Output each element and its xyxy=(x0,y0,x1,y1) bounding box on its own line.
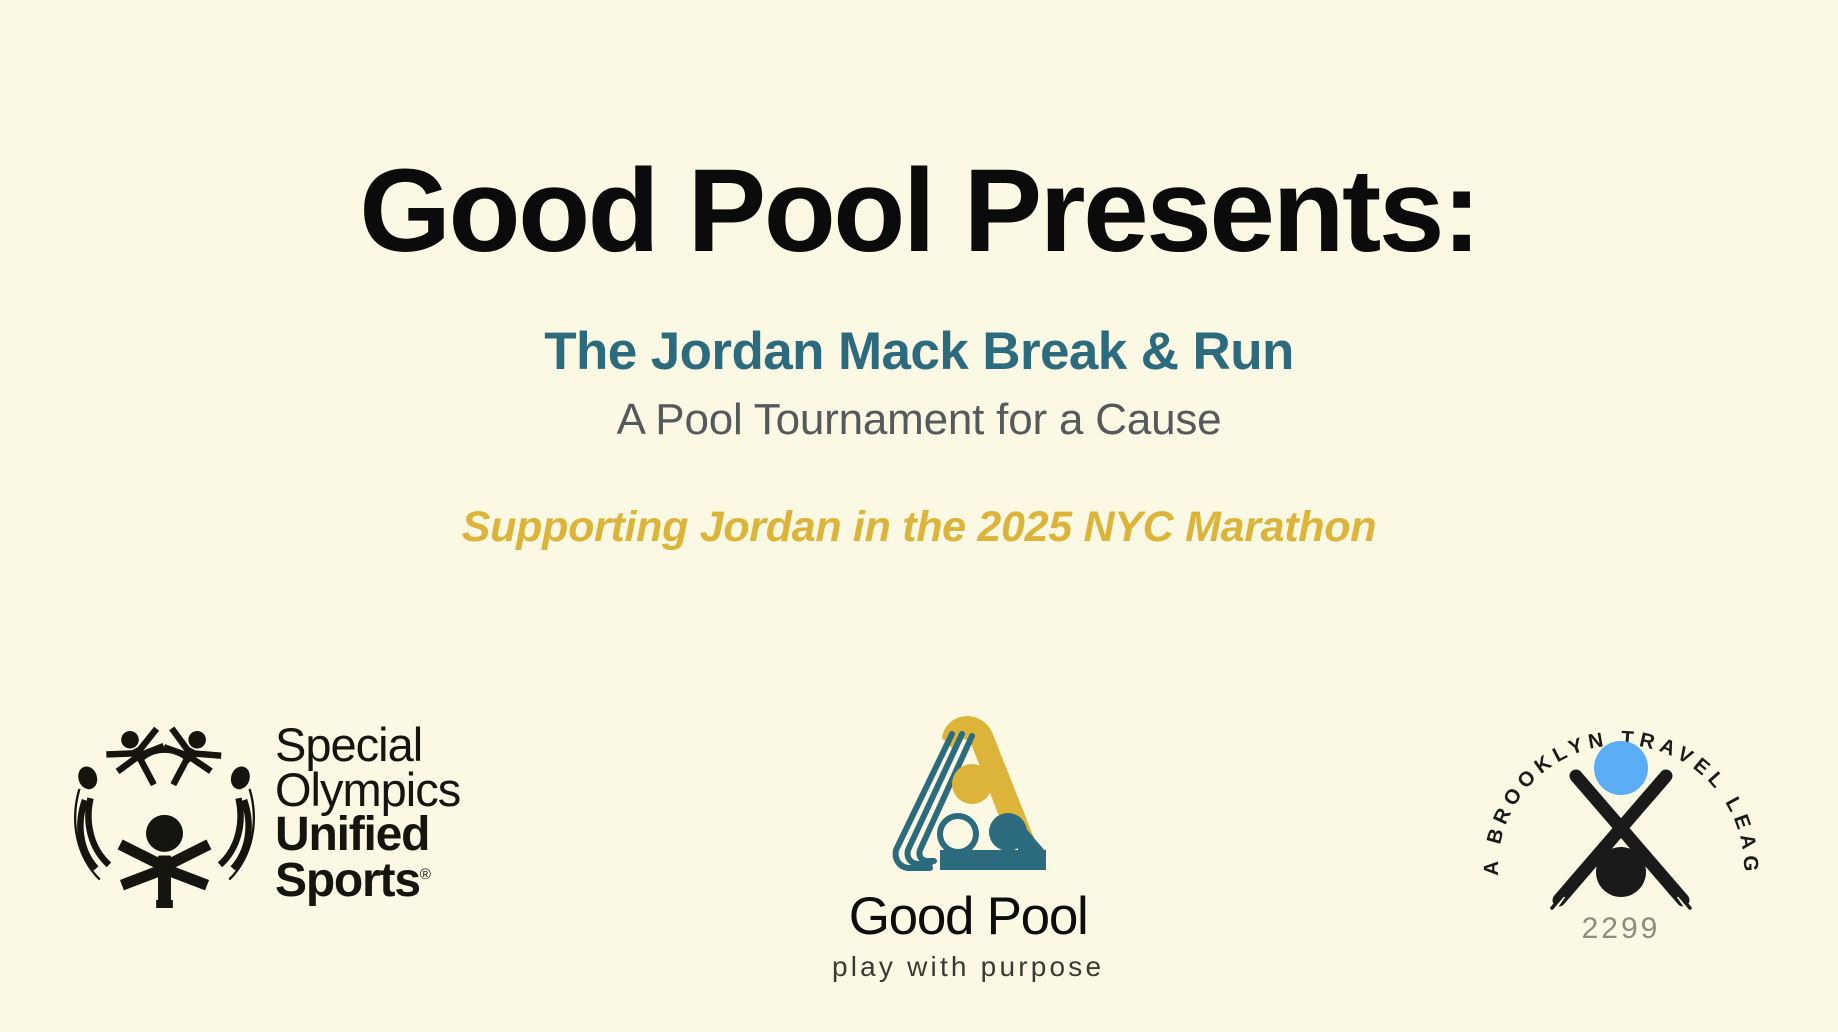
so-line-2: Olympics xyxy=(275,767,460,812)
so-line-3: Unified xyxy=(275,812,460,858)
registered-trademark-icon: ® xyxy=(420,866,430,883)
sponsor-logo-row: Special Olympics Unified Sports® xyxy=(0,700,1838,1000)
headline-block: Good Pool Presents: The Jordan Mack Brea… xyxy=(0,0,1838,551)
pool-rack-triangle-with-cue-icon xyxy=(868,700,1068,890)
good-pool-tagline: play with purpose xyxy=(832,951,1104,983)
sponsor-bca-brooklyn-travel-league: BCA BROOKLYN TRAVEL LEAGUE xyxy=(1476,700,1766,950)
event-tagline: Supporting Jordan in the 2025 NYC Marath… xyxy=(0,444,1838,551)
sponsor-special-olympics: Special Olympics Unified Sports® xyxy=(72,700,460,908)
crossed-pool-cues-with-balls-icon: BCA BROOKLYN TRAVEL LEAGUE xyxy=(1476,700,1766,950)
sponsor-good-pool: Good Pool play with purpose xyxy=(832,700,1104,983)
event-subtitle: The Jordan Mack Break & Run xyxy=(0,270,1838,380)
event-flyer-slide: Good Pool Presents: The Jordan Mack Brea… xyxy=(0,0,1838,1032)
event-description: A Pool Tournament for a Cause xyxy=(0,380,1838,444)
special-olympics-wordmark: Special Olympics Unified Sports® xyxy=(275,722,460,904)
good-pool-wordmark: Good Pool xyxy=(849,886,1088,947)
so-line-4: Sports® xyxy=(275,858,460,904)
page-title: Good Pool Presents: xyxy=(0,152,1838,270)
special-olympics-circle-of-figures-icon xyxy=(72,718,257,908)
so-line-1: Special xyxy=(275,722,460,767)
bca-league-number: 2299 xyxy=(1582,912,1661,945)
